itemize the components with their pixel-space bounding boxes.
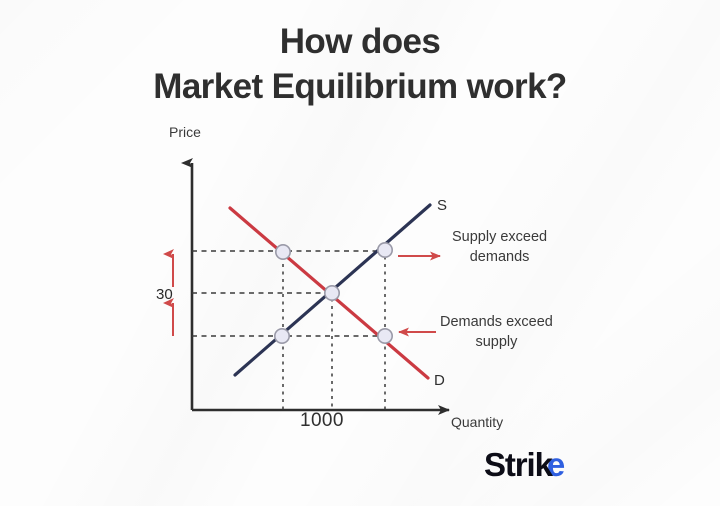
annotation-demand-exceeds-supply: Demands exceed supply <box>440 312 553 352</box>
annotation-demand-line-1: Demands exceed <box>440 312 553 332</box>
infographic-canvas: How does Market Equilibrium work? <box>0 0 720 506</box>
point-demand-at-high-price <box>276 245 290 259</box>
price-gap-label: 30 <box>156 286 173 303</box>
x-axis-tick-1000: 1000 <box>300 410 344 432</box>
y-axis-label: Price <box>169 124 201 140</box>
point-supply-at-low-price <box>275 329 289 343</box>
annotation-supply-exceeds-demand: Supply exceed demands <box>452 227 547 267</box>
x-axis-label: Quantity <box>451 414 503 430</box>
strike-logo: Strike <box>484 448 564 481</box>
point-equilibrium <box>325 286 339 300</box>
supply-curve-label: S <box>437 197 447 214</box>
annotation-supply-line-1: Supply exceed <box>452 227 547 247</box>
logo-text-main: Strik <box>484 446 552 483</box>
point-supply-at-high-price <box>378 243 392 257</box>
demand-curve-label: D <box>434 372 445 389</box>
equilibrium-chart: Price Quantity 1000 30 S D Supply exceed… <box>0 0 720 506</box>
annotation-demand-line-2: supply <box>440 332 553 352</box>
point-demand-at-low-price <box>378 329 392 343</box>
annotation-supply-line-2: demands <box>452 247 547 267</box>
chart-graphics <box>0 0 720 506</box>
